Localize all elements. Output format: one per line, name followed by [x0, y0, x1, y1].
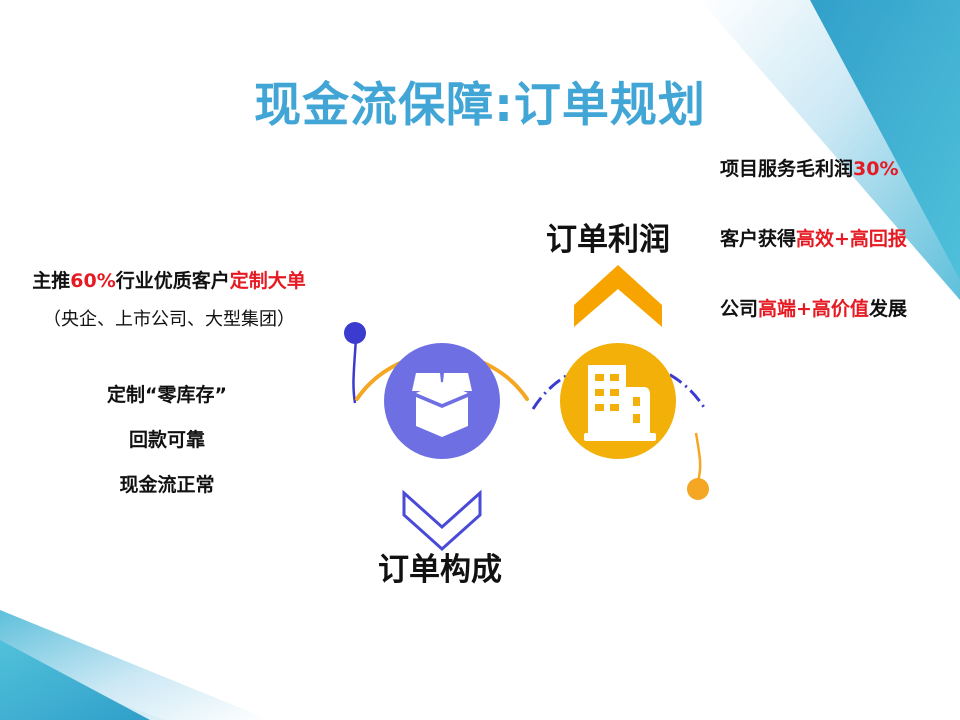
left-top-part-4: 定制大单 [230, 270, 306, 292]
left-top-part-2: 60% [70, 270, 115, 292]
left-top-subline: （央企、上市公司、大型集团） [4, 305, 334, 331]
orange-endpoint-dot [687, 478, 709, 500]
orange-chevron-up-icon [574, 265, 662, 327]
right-line-project-margin: 项目服务毛利润30% [720, 158, 958, 182]
right-line-2-part-2: 高效+高回报 [796, 228, 907, 250]
label-order-profit: 订单利润 [498, 214, 718, 259]
left-top-headline: 主推60%行业优质客户定制大单 [4, 266, 334, 293]
right-line-3-part-2: 高端+高价值 [758, 298, 869, 320]
left-bottom-line-3: 现金流正常 [22, 476, 312, 495]
right-line-customer-benefit: 客户获得高效+高回报 [720, 228, 958, 252]
left-top-part-3: 行业优质客户 [116, 270, 230, 292]
blue-connector-line [353, 338, 356, 403]
right-line-1-part-1: 项目服务毛利润 [720, 158, 853, 180]
right-text-block: 项目服务毛利润30% 客户获得高效+高回报 公司高端+高价值发展 [720, 158, 958, 321]
corner-shape-bottom-left-dark-1 [0, 660, 165, 720]
left-bottom-line-2: 回款可靠 [22, 431, 312, 450]
slide-canvas: 现金流保障:订单规划 项目服务毛利润30% 客户获得高效+高回报 公司高端+高价… [0, 0, 960, 720]
right-line-1-part-2: 30% [853, 158, 898, 180]
left-top-text-block: 主推60%行业优质客户定制大单 （央企、上市公司、大型集团） [4, 266, 334, 331]
right-line-company-growth: 公司高端+高价值发展 [720, 298, 958, 322]
corner-shape-bottom-left-light [0, 610, 270, 720]
orange-connector-line [696, 433, 700, 481]
blue-chevron-down-icon [404, 493, 480, 549]
left-bottom-text-block: 定制“零库存” 回款可靠 现金流正常 [22, 386, 312, 495]
page-title: 现金流保障:订单规划 [0, 66, 960, 135]
right-line-2-part-1: 客户获得 [720, 228, 796, 250]
blue-endpoint-dot [344, 322, 366, 344]
left-bottom-line-1: 定制“零库存” [22, 386, 312, 405]
left-top-part-1: 主推 [32, 270, 70, 292]
label-order-composition: 订单构成 [330, 544, 550, 589]
corner-shape-bottom-left-dark-2 [0, 640, 150, 720]
right-line-3-part-3: 发展 [869, 298, 907, 320]
corner-shape-top-right-dark-1 [795, 0, 960, 60]
